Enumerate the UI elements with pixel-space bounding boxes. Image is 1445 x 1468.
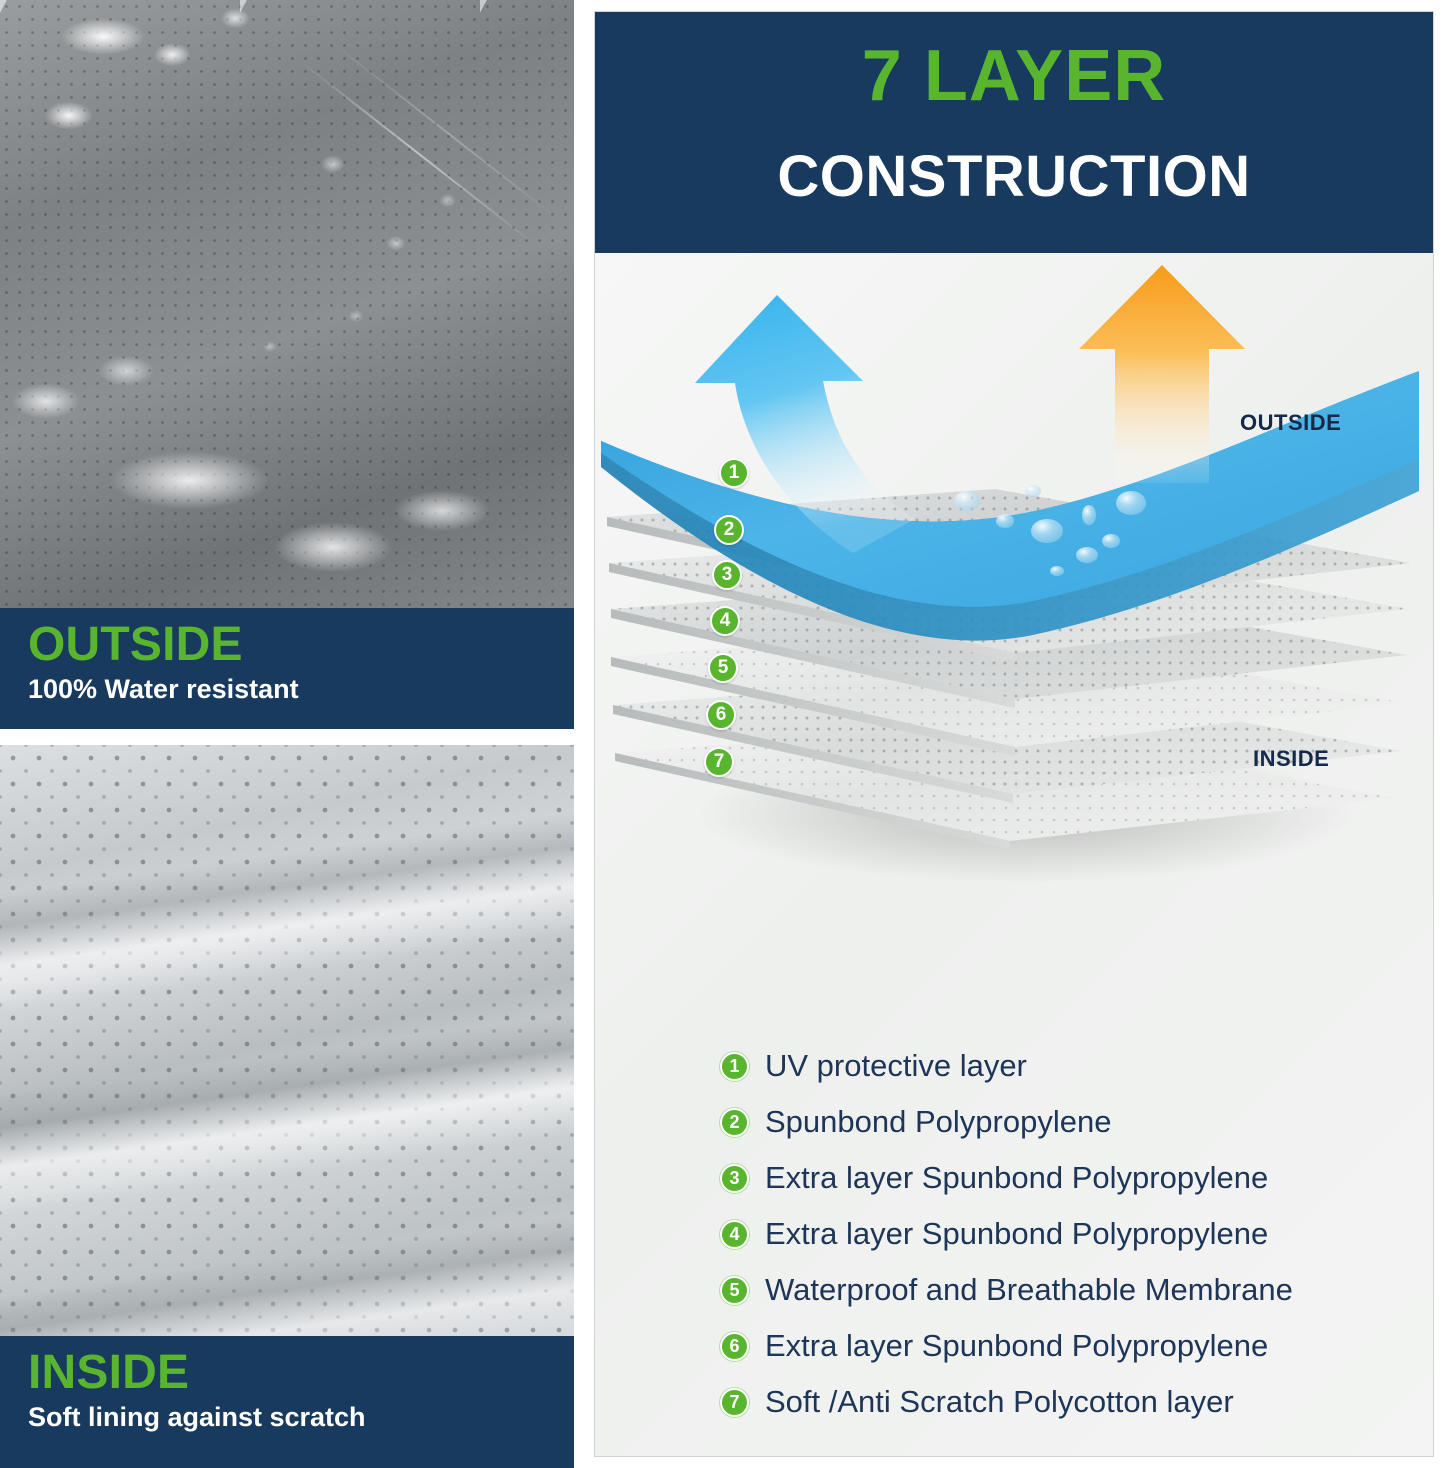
legend-item[interactable]: 1 UV protective layer [720,1038,1420,1094]
legend-label: Extra layer Spunbond Polypropylene [765,1160,1268,1196]
diagram-inside-label: INSIDE [1253,746,1329,772]
legend-number-badge: 6 [720,1332,749,1361]
panel-header: 7 LAYER CONSTRUCTION [595,12,1433,253]
layer-badge-6[interactable]: 6 [706,700,736,730]
layer-badge-5[interactable]: 5 [708,653,738,683]
legend-number-badge: 4 [720,1220,749,1249]
panel-title-layer-count: 7 LAYER [595,12,1433,112]
legend-number-badge: 7 [720,1388,749,1417]
seven-layer-construction-panel: 7 LAYER CONSTRUCTION [594,11,1434,1457]
legend-item[interactable]: 2 Spunbond Polypropylene [720,1094,1420,1150]
inside-photo-card: INSIDE Soft lining against scratch [0,745,574,1468]
legend-label: Waterproof and Breathable Membrane [765,1272,1293,1308]
layer-badge-1[interactable]: 1 [719,458,749,488]
legend-number-badge: 1 [720,1052,749,1081]
legend-number-badge: 3 [720,1164,749,1193]
soft-grey-dotted-lining-fabric-photo [0,745,574,1336]
inside-caption-bar: INSIDE Soft lining against scratch [0,1336,574,1468]
legend-item[interactable]: 3 Extra layer Spunbond Polypropylene [720,1150,1420,1206]
outside-photo-card: OUTSIDE 100% Water resistant [0,0,574,729]
breathability-up-arrow-icon [1079,265,1245,483]
layer-badge-7[interactable]: 7 [704,747,734,777]
legend-label: Spunbond Polypropylene [765,1104,1111,1140]
legend-label: Soft /Anti Scratch Polycotton layer [765,1384,1234,1420]
diagram-outside-label: OUTSIDE [1240,410,1341,436]
outside-caption-title: OUTSIDE [28,620,574,671]
outside-caption-subtitle: 100% Water resistant [28,673,574,705]
panel-body: OUTSIDE INSIDE 1 2 3 4 5 6 7 1 UV protec… [595,253,1433,1456]
legend-label: Extra layer Spunbond Polypropylene [765,1328,1268,1364]
fabric-seam-line [299,60,537,246]
layer-badge-2[interactable]: 2 [714,515,744,545]
left-photo-column: OUTSIDE 100% Water resistant INSIDE Soft… [0,0,574,1468]
legend-label: UV protective layer [765,1048,1027,1084]
legend-item[interactable]: 6 Extra layer Spunbond Polypropylene [720,1318,1420,1374]
layer-legend-list: 1 UV protective layer 2 Spunbond Polypro… [720,1038,1420,1430]
legend-item[interactable]: 4 Extra layer Spunbond Polypropylene [720,1206,1420,1262]
fabric-seam-line [329,40,567,226]
legend-label: Extra layer Spunbond Polypropylene [765,1216,1268,1252]
panel-title-construction: CONSTRUCTION [595,112,1433,206]
legend-item[interactable]: 5 Waterproof and Breathable Membrane [720,1262,1420,1318]
layer-stack-diagram: OUTSIDE INSIDE 1 2 3 4 5 6 7 [595,253,1433,1013]
water-beading-on-dark-fabric-photo [0,0,574,608]
inside-caption-subtitle: Soft lining against scratch [28,1401,574,1433]
layer-badge-3[interactable]: 3 [712,560,742,590]
inside-caption-title: INSIDE [28,1348,574,1399]
legend-number-badge: 2 [720,1108,749,1137]
legend-number-badge: 5 [720,1276,749,1305]
legend-item[interactable]: 7 Soft /Anti Scratch Polycotton layer [720,1374,1420,1430]
layer-badge-4[interactable]: 4 [710,606,740,636]
outside-caption-bar: OUTSIDE 100% Water resistant [0,608,574,729]
